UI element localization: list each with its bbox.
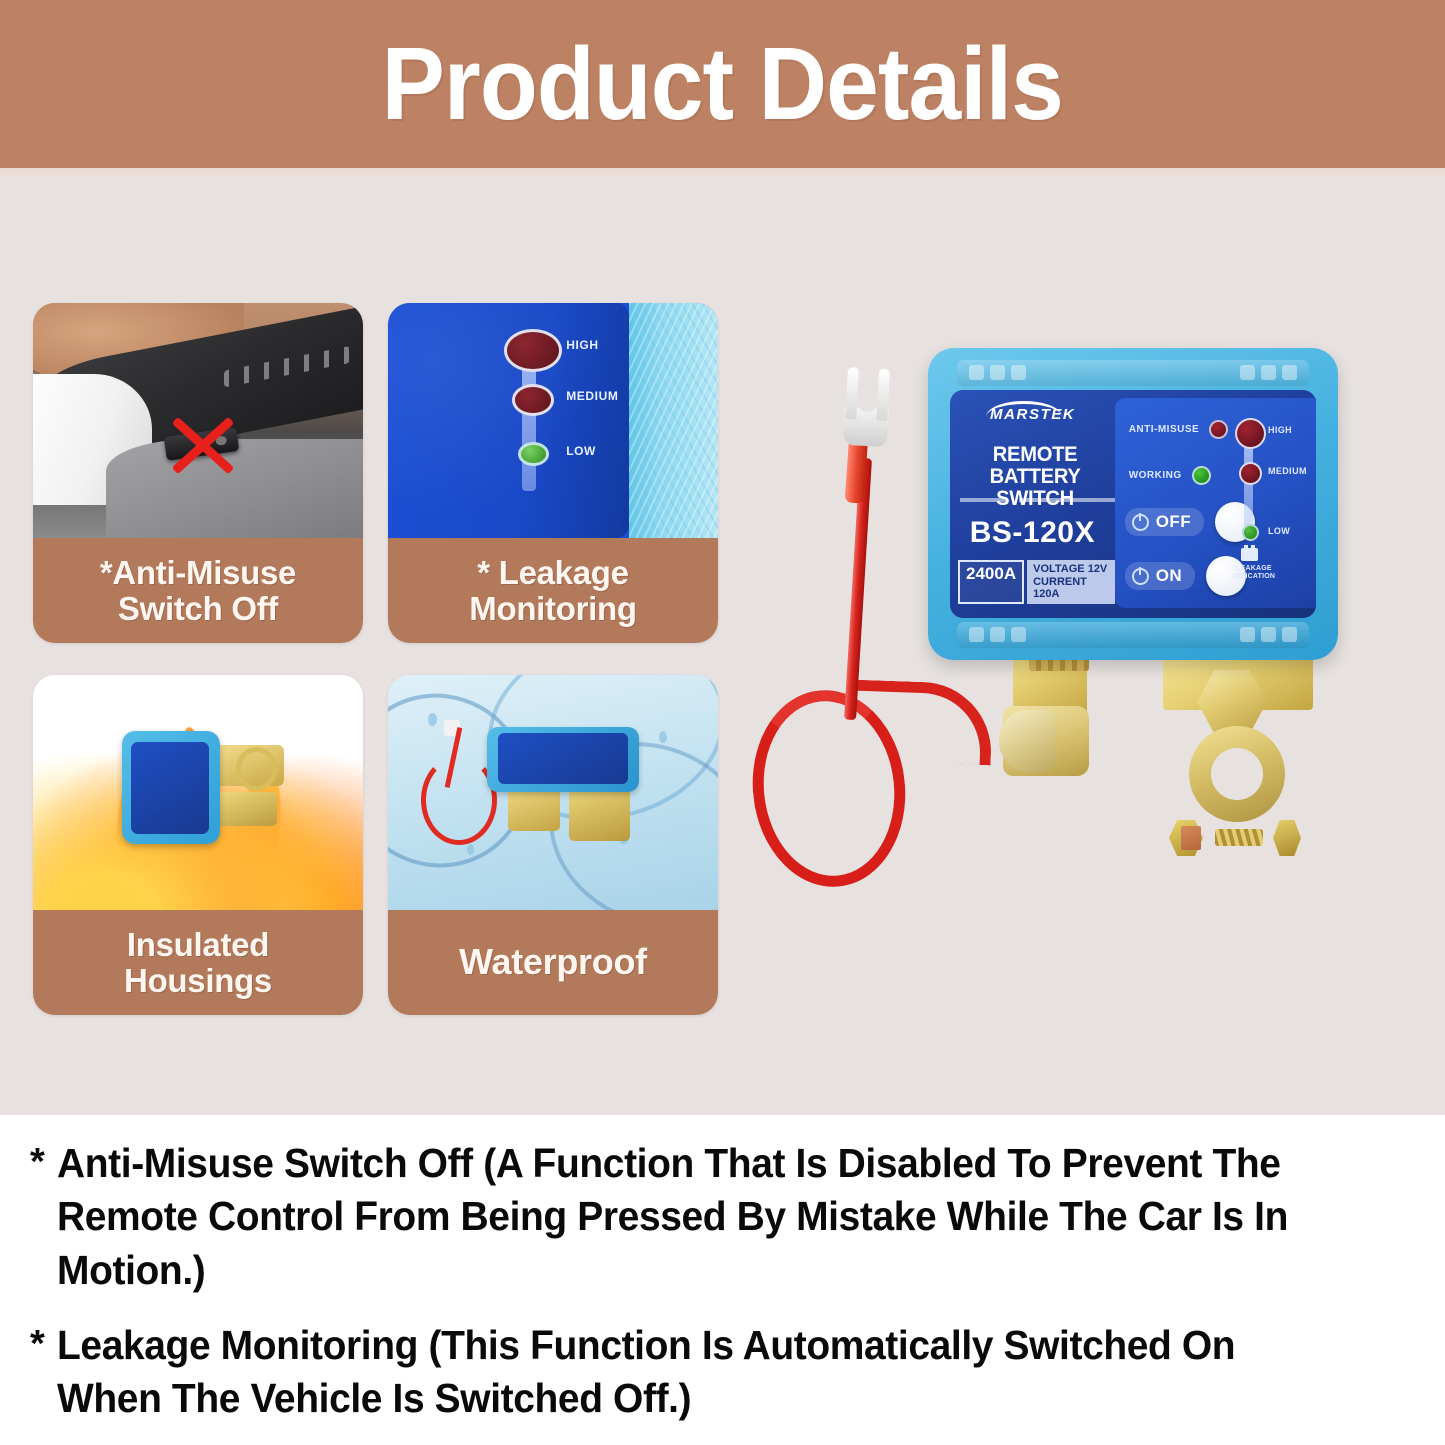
led-high-label: HIGH — [566, 338, 598, 352]
fork-slot — [857, 368, 879, 413]
feature-card-anti-misuse[interactable]: *Anti-Misuse Switch Off — [33, 303, 363, 643]
spec-amperage: 2400A — [958, 560, 1024, 604]
brand-name: MARSTEK — [990, 406, 1075, 423]
on-label: ON — [1156, 566, 1183, 586]
bolt-thread — [1215, 829, 1263, 846]
leakage-high-label: HIGH — [1268, 425, 1292, 435]
panel-shape — [498, 733, 629, 784]
note-leakage-monitoring: * Leakage Monitoring (This Function Is A… — [30, 1319, 1415, 1426]
leakage-high-led-icon — [1235, 418, 1266, 449]
note-text: Leakage Monitoring (This Function Is Aut… — [57, 1319, 1347, 1426]
feature-card-caption: *Anti-Misuse Switch Off — [33, 538, 363, 643]
off-label-pill: OFF — [1125, 508, 1205, 536]
leakage-indication-group: HIGH MEDIUM LOW LEAKAGE INDICATION — [1222, 412, 1310, 602]
panel-shape — [131, 742, 210, 834]
battery-icon — [1241, 548, 1258, 561]
brass-terminal-shape — [569, 784, 630, 841]
battery-clamp-ring — [1189, 726, 1285, 822]
leakage-scale-bar — [1244, 434, 1253, 538]
note-anti-misuse: * Anti-Misuse Switch Off (A Function Tha… — [30, 1137, 1415, 1297]
caption-line-2: Switch Off — [118, 591, 278, 626]
product-name-underline — [960, 498, 1115, 502]
leakage-caption-line-2: INDICATION — [1228, 573, 1280, 581]
off-label: OFF — [1156, 512, 1192, 532]
terminal-post — [999, 710, 1055, 772]
on-label-pill: ON — [1125, 562, 1196, 590]
header-underline — [0, 168, 1445, 175]
waterproof-photo — [388, 675, 718, 910]
water-drop-shape — [428, 713, 437, 726]
vent-grille-top — [957, 360, 1310, 386]
panel-control-area: ANTI-MISUSE WORKING OFF — [1115, 398, 1316, 608]
feature-card-caption: Insulated Housings — [33, 910, 363, 1015]
red-cable-loop-shape — [421, 755, 497, 845]
feature-card-waterproof[interactable]: Waterproof — [388, 675, 718, 1015]
leakage-low-led-icon — [1242, 524, 1259, 541]
feature-card-caption: Waterproof — [388, 910, 718, 1015]
insulated-housings-photo — [33, 675, 363, 910]
power-icon — [1132, 568, 1149, 585]
water-drop-shape — [659, 731, 667, 743]
vent-grille-bottom — [957, 622, 1310, 648]
feature-card-insulated-housings[interactable]: Insulated Housings — [33, 675, 363, 1015]
model-number: BS-120X — [950, 516, 1115, 550]
brass-terminal-shape — [508, 786, 560, 831]
leakage-low-label: LOW — [1268, 526, 1290, 536]
caption-line-1: * Leakage — [477, 555, 628, 590]
led-low-label: LOW — [566, 444, 596, 458]
caption-line-2: Monitoring — [469, 591, 636, 626]
housing-shape — [487, 727, 639, 792]
indicator-anti-misuse: ANTI-MISUSE — [1129, 420, 1229, 439]
note-bullet: * — [30, 1137, 44, 1188]
header-banner: Product Details — [0, 0, 1445, 168]
bolt-nut — [1273, 820, 1301, 856]
housing-shape — [122, 731, 220, 844]
spec-box: 2400A VOLTAGE 12V CURRENT 120A — [958, 560, 1115, 604]
anti-misuse-photo — [33, 303, 363, 538]
red-x-icon — [165, 416, 241, 472]
fork-terminal-icon — [843, 367, 891, 447]
left-brass-terminal — [1003, 648, 1107, 838]
leakage-monitoring-photo: HIGH MEDIUM LOW — [388, 303, 718, 538]
page-title: Product Details — [382, 25, 1063, 143]
leakage-indication-caption: LEAKAGE INDICATION — [1228, 565, 1280, 582]
note-bullet: * — [30, 1319, 44, 1370]
red-cable-run — [850, 680, 994, 766]
panel-branding-area: MARSTEK REMOTE BATTERY SWITCH BS-120X 24… — [950, 390, 1115, 618]
caption-line-1: Waterproof — [459, 943, 647, 982]
device-panel: MARSTEK REMOTE BATTERY SWITCH BS-120X 24… — [950, 390, 1316, 618]
housing-edge — [629, 303, 718, 538]
indicator-label: WORKING — [1129, 470, 1182, 481]
spec-current: CURRENT 120A — [1033, 576, 1109, 601]
hero-product-image: MARSTEK REMOTE BATTERY SWITCH BS-120X 24… — [735, 330, 1395, 1010]
device-housing: MARSTEK REMOTE BATTERY SWITCH BS-120X 24… — [928, 348, 1338, 660]
product-thumbnail — [122, 731, 280, 844]
note-text: Anti-Misuse Switch Off (A Function That … — [57, 1137, 1347, 1297]
power-icon — [1132, 514, 1149, 531]
indicator-working: WORKING — [1129, 466, 1211, 485]
feature-card-leakage-monitoring[interactable]: HIGH MEDIUM LOW * Leakage Monitoring — [388, 303, 718, 643]
product-thumbnail — [487, 727, 639, 826]
led-medium-icon — [512, 384, 554, 416]
brass-ring-shape — [236, 747, 278, 791]
product-name-line-1: REMOTE BATTERY — [990, 443, 1081, 488]
clamp-bolt — [1163, 818, 1303, 858]
brass-terminal-shape — [214, 792, 277, 826]
spec-voltage-current: VOLTAGE 12V CURRENT 120A — [1027, 560, 1115, 604]
leakage-caption-line-1: LEAKAGE — [1228, 565, 1280, 573]
led-low-icon — [518, 442, 549, 466]
indicator-label: ANTI-MISUSE — [1129, 424, 1200, 435]
feature-card-caption: * Leakage Monitoring — [388, 538, 718, 643]
notes-section: * Anti-Misuse Switch Off (A Function Tha… — [0, 1115, 1445, 1445]
feature-card-grid: *Anti-Misuse Switch Off HIGH MEDIUM LOW … — [33, 303, 723, 1015]
caption-line-1: *Anti-Misuse — [100, 555, 296, 590]
led-medium-label: MEDIUM — [566, 389, 618, 403]
leakage-medium-led-icon — [1239, 462, 1262, 485]
leakage-medium-label: MEDIUM — [1268, 466, 1307, 476]
caption-line-1: Insulated — [127, 927, 269, 962]
right-brass-terminal — [1155, 648, 1320, 958]
spec-voltage: VOLTAGE 12V — [1033, 563, 1109, 576]
working-led-icon — [1192, 466, 1211, 485]
caption-line-2: Housings — [124, 963, 272, 998]
bolt-insulator — [1181, 826, 1201, 850]
